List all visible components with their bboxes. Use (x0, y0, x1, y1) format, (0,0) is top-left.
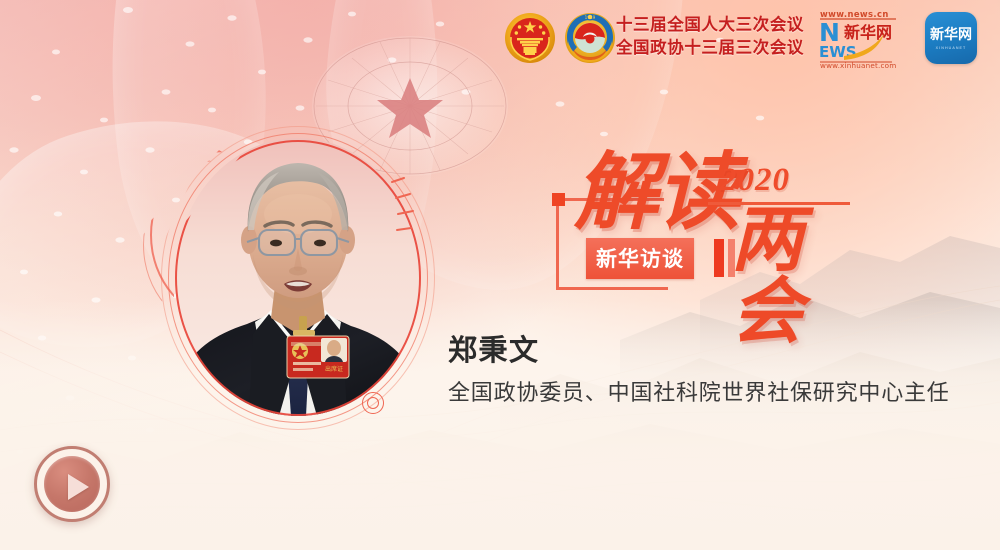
play-button[interactable] (34, 446, 110, 522)
svg-text:新华网: 新华网 (844, 23, 892, 42)
broadcast-promo-card: 出席证 (0, 0, 1000, 550)
program-title-main: 解读 (574, 152, 738, 236)
circle-accent-decoration (362, 392, 384, 414)
guest-name: 郑秉文 (448, 327, 540, 369)
program-subtitle-badge: 新华访谈 (586, 238, 694, 279)
portrait-dash-decoration (386, 176, 416, 246)
conference-title: 十三届全国人大三次会议 全国政协十三届三次会议 (612, 14, 808, 60)
xinhuanet-app-label: 新华网 (930, 27, 972, 41)
xinhuanet-app-sub: XINHUANET (936, 46, 967, 50)
svg-text:1949: 1949 (585, 15, 596, 20)
guest-job-title: 全国政协委员、中国社科院世界社保研究中心主任 (448, 375, 950, 407)
conference-title-line2: 全国政协十三届三次会议 (612, 37, 808, 60)
cppcc-emblem-icon: 1949 (563, 11, 617, 65)
program-title-secondary: 两会 (731, 204, 856, 348)
header-bar: 1949 十三届全国人大三次会议 全国政协十三届三次会议 www.news.cn… (0, 0, 1000, 78)
national-emblem-icon (503, 11, 557, 65)
newscn-logo: www.news.cn N EWS 新华网 www.xinhuanet.com (818, 8, 910, 68)
play-triangle-icon (68, 474, 89, 500)
title-accent-bar (714, 239, 724, 277)
xinhuanet-app-badge[interactable]: 新华网 XINHUANET (925, 12, 977, 64)
conference-title-line1: 十三届全国人大三次会议 (612, 14, 808, 37)
svg-text:www.xinhuanet.com: www.xinhuanet.com (820, 61, 896, 68)
title-bracket-square (552, 193, 565, 206)
program-title-art: 解读 新华访谈 2020 两会 (556, 160, 856, 305)
program-year: 2020 (720, 162, 790, 199)
